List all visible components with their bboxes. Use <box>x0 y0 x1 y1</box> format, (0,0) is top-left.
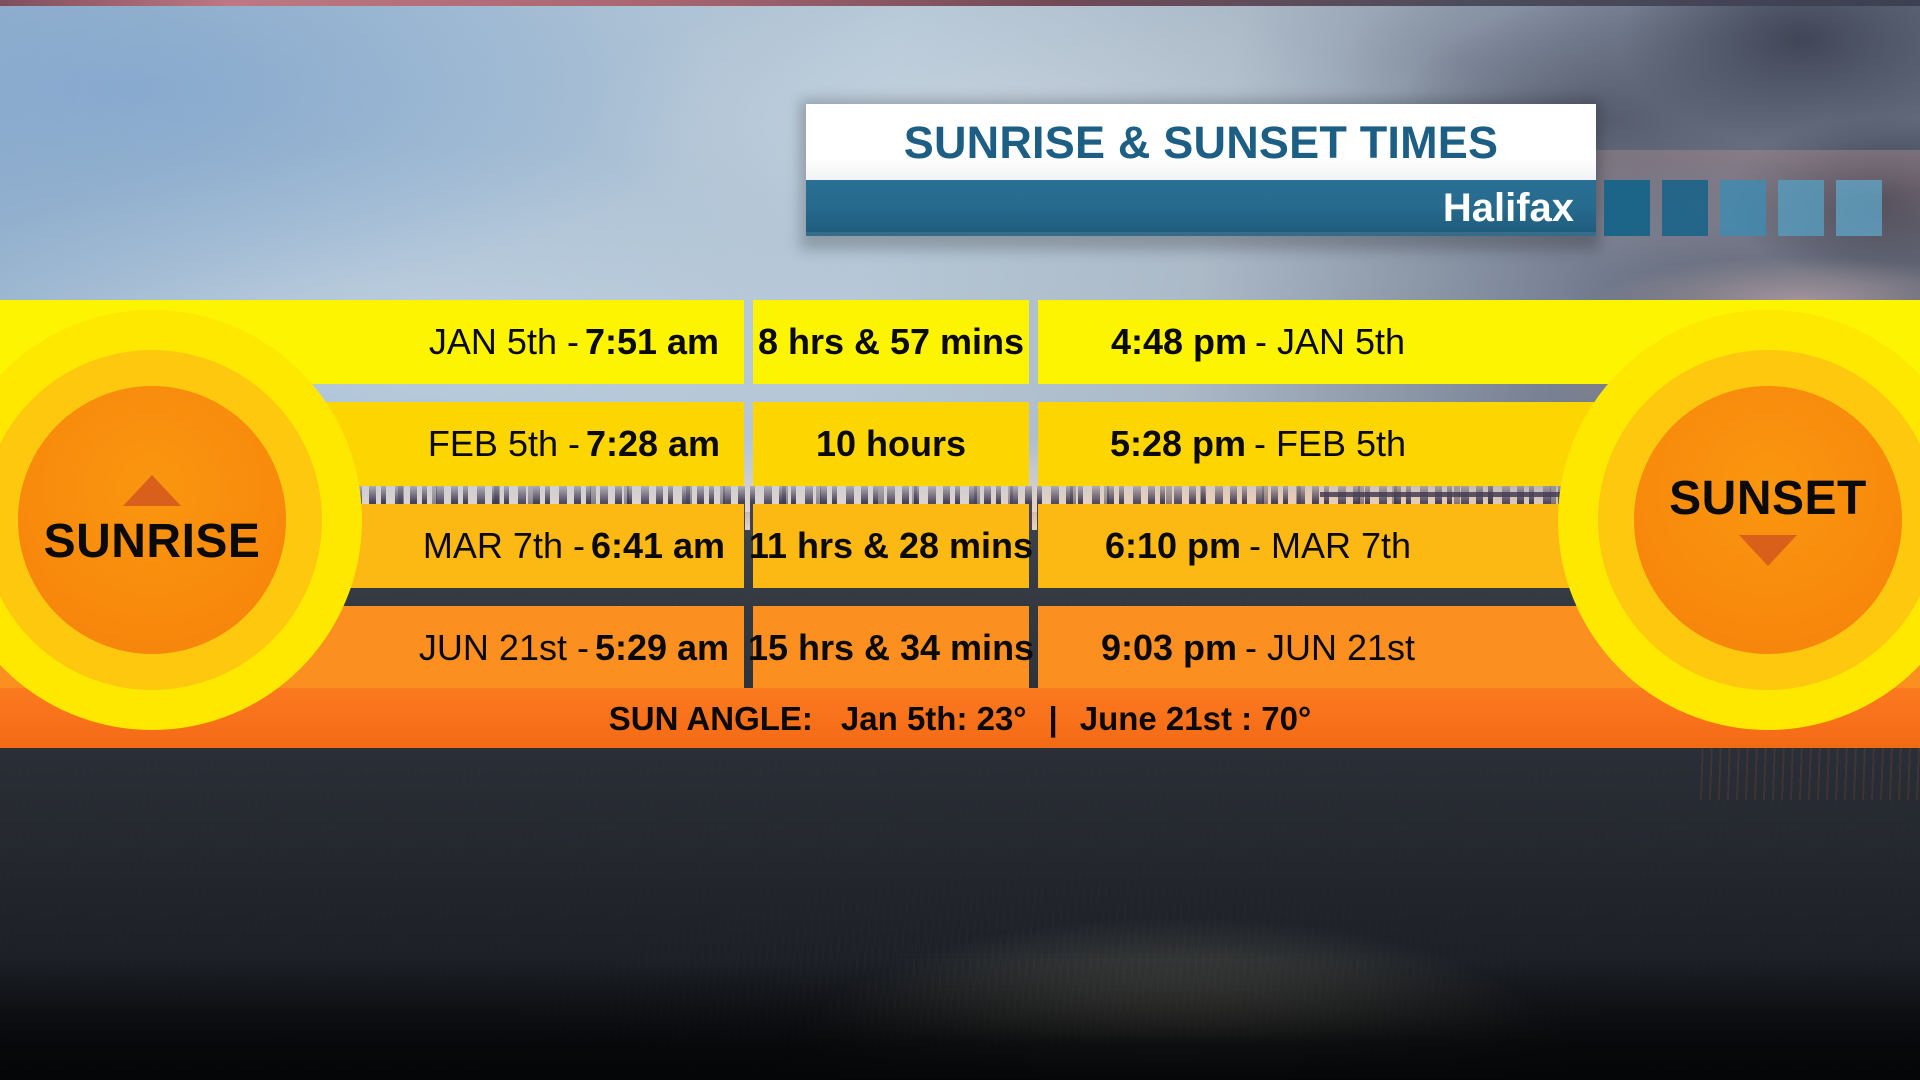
banner-city-bar: Halifax <box>806 180 1596 236</box>
cell-sunrise: FEB 5th - 7:28 am <box>404 402 744 486</box>
cell-sunset: 5:28 pm - FEB 5th <box>1038 402 1478 486</box>
daylight-duration: 8 hrs & 57 mins <box>758 324 1024 360</box>
sunrise-date: JUN 21st - <box>419 630 589 666</box>
sunset-time: 5:28 pm <box>1110 426 1246 462</box>
sunset-time: 6:10 pm <box>1105 528 1241 564</box>
sunset-date: - FEB 5th <box>1254 426 1406 462</box>
sunrise-time: 7:51 am <box>585 324 719 360</box>
sun-angle-label: SUN ANGLE: <box>609 702 813 735</box>
sunrise-date: JAN 5th - <box>429 324 579 360</box>
sunrise-date: FEB 5th - <box>428 426 580 462</box>
banner-title-bar: SUNRISE & SUNSET TIMES <box>806 104 1596 180</box>
cell-daylight: 15 hrs & 34 mins <box>753 606 1029 690</box>
sunset-date: - JUN 21st <box>1245 630 1415 666</box>
banner-decor-squares <box>1604 180 1882 236</box>
cell-sunrise: MAR 7th - 6:41 am <box>404 504 744 588</box>
sunset-badge: SUNSET <box>1558 310 1920 730</box>
sun-angle-winter: Jan 5th: 23° <box>841 702 1027 735</box>
cell-sunset: 9:03 pm - JUN 21st <box>1038 606 1478 690</box>
cell-sunset: 4:48 pm - JAN 5th <box>1038 300 1478 384</box>
sunset-time: 4:48 pm <box>1111 324 1247 360</box>
sun-angle-separator: | <box>1049 702 1058 735</box>
triangle-up-icon <box>123 475 181 506</box>
weather-graphic: SUNRISE & SUNSET TIMES Halifax JAN 5th -… <box>0 0 1920 1080</box>
daylight-duration: 10 hours <box>816 426 966 462</box>
sunrise-time: 5:29 am <box>595 630 729 666</box>
cell-sunrise: JAN 5th - 7:51 am <box>404 300 744 384</box>
page-title: SUNRISE & SUNSET TIMES <box>904 120 1498 165</box>
top-edge-line <box>0 0 1920 6</box>
cell-sunrise: JUN 21st - 5:29 am <box>404 606 744 690</box>
sunset-date: - JAN 5th <box>1255 324 1405 360</box>
cell-daylight: 10 hours <box>753 402 1029 486</box>
sunrise-label: SUNRISE <box>44 518 261 566</box>
daylight-duration: 11 hrs & 28 mins <box>749 528 1033 564</box>
cell-daylight: 11 hrs & 28 mins <box>753 504 1029 588</box>
triangle-down-icon <box>1739 535 1797 566</box>
sunrise-ring-inner: SUNRISE <box>18 386 286 654</box>
cell-daylight: 8 hrs & 57 mins <box>753 300 1029 384</box>
decor-square <box>1778 180 1824 236</box>
sunrise-date: MAR 7th - <box>423 528 585 564</box>
decor-square <box>1604 180 1650 236</box>
sunset-time: 9:03 pm <box>1101 630 1237 666</box>
sunset-label: SUNSET <box>1669 475 1867 523</box>
sunrise-time: 6:41 am <box>591 528 725 564</box>
sunset-ring-inner: SUNSET <box>1634 386 1902 654</box>
sunrise-time: 7:28 am <box>586 426 720 462</box>
cell-sunset: 6:10 pm - MAR 7th <box>1038 504 1478 588</box>
daylight-duration: 15 hrs & 34 mins <box>748 630 1034 666</box>
title-banner: SUNRISE & SUNSET TIMES Halifax <box>806 104 1596 236</box>
sun-angle-content: SUN ANGLE: Jan 5th: 23° | June 21st : 70… <box>609 702 1311 735</box>
decor-square <box>1720 180 1766 236</box>
city-name: Halifax <box>1443 188 1596 228</box>
decor-square <box>1836 180 1882 236</box>
sunrise-badge: SUNRISE <box>0 310 362 730</box>
water-bottom-fade <box>0 960 1920 1080</box>
decor-square <box>1662 180 1708 236</box>
sunset-date: - MAR 7th <box>1249 528 1411 564</box>
sun-angle-summer: June 21st : 70° <box>1080 702 1311 735</box>
